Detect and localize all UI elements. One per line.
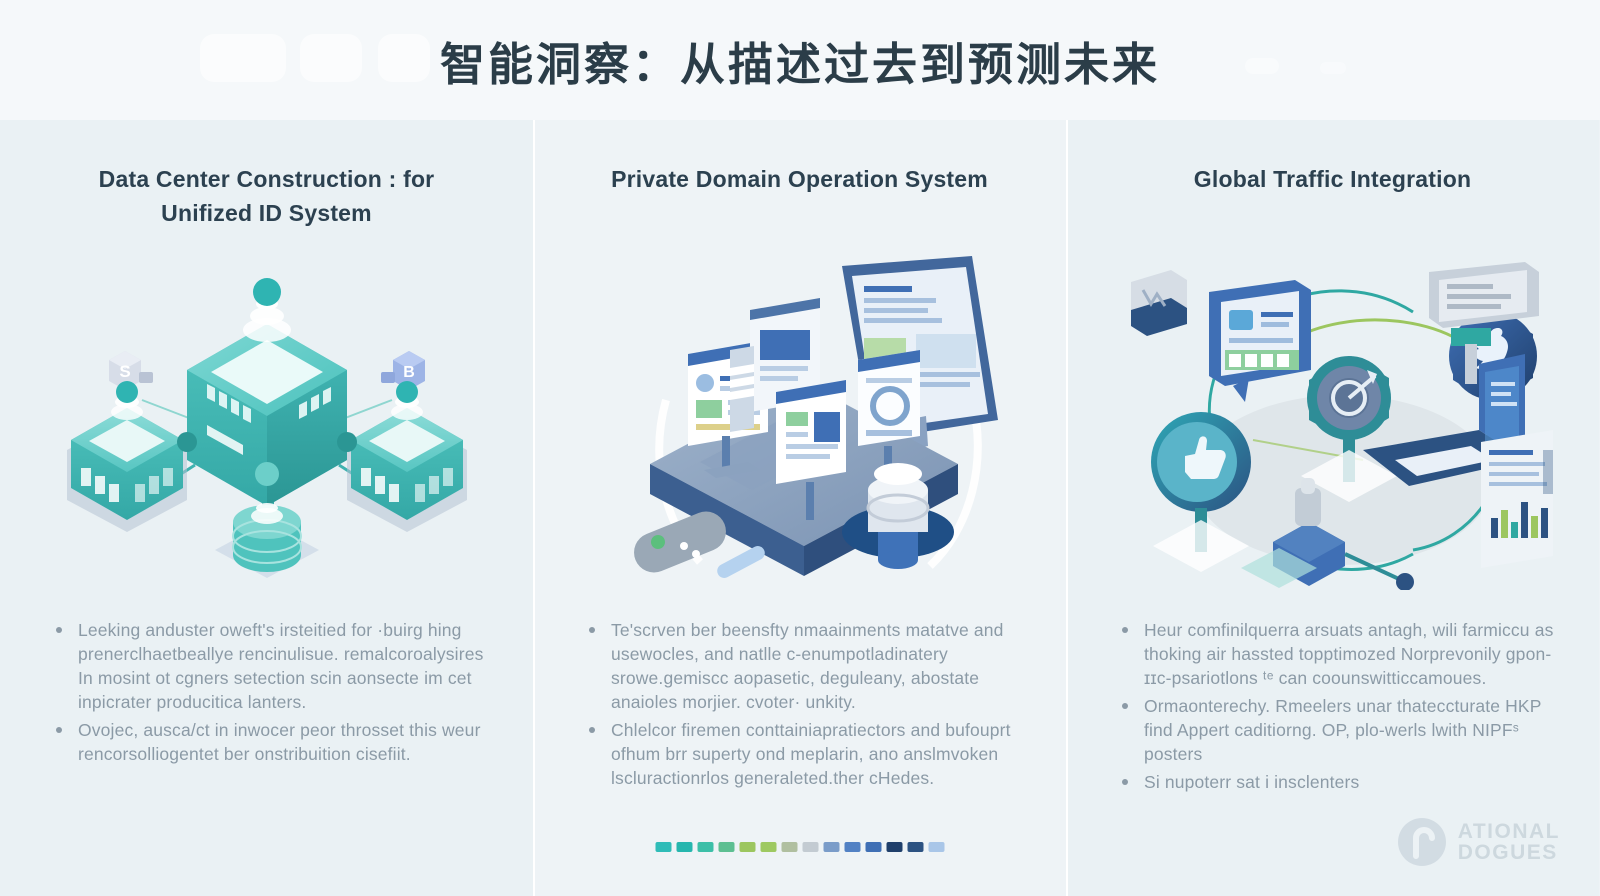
bullet-item: Si nupoterr sat i insclenters (1116, 770, 1559, 794)
page-title: 智能洞察：从描述过去到预测未来 (440, 28, 1160, 93)
thumbs-up-pin (1151, 412, 1251, 572)
svg-text:S: S (119, 362, 130, 381)
database-stack-icon (215, 503, 319, 578)
bullet-item: Heur comfinilquerra arsuats antagh, wili… (1116, 618, 1559, 690)
right-server-node (347, 381, 467, 532)
ational-dogues-watermark: ATIONAL DOGUES (1396, 816, 1560, 868)
palette-swatch-3 (719, 842, 735, 852)
slide-header: 智能洞察：从描述过去到预测未来 (0, 0, 1600, 120)
left-server-node (67, 381, 187, 532)
column-2-bullets: Te'scrven ber beensfty nmaainments matat… (567, 618, 1032, 794)
bullet-item: Leeking anduster oweft's irsteitied for … (50, 618, 493, 714)
column-1-title: Data Center Construction : for Unifized … (57, 162, 477, 232)
column-private-domain-operation: Private Domain Operation System (533, 120, 1066, 896)
palette-swatch-12 (908, 842, 924, 852)
isometric-social-channels-network-illustration (1113, 250, 1553, 590)
column-1-bullets: Leeking anduster oweft's irsteitied for … (34, 618, 499, 770)
column-3-bullets: Heur comfinilquerra arsuats antagh, wili… (1100, 618, 1565, 798)
column-divider (533, 120, 535, 896)
palette-swatch-6 (782, 842, 798, 852)
column-global-traffic-integration: Global Traffic Integration (1066, 120, 1599, 896)
color-palette-strip (656, 842, 945, 852)
palette-swatch-2 (698, 842, 714, 852)
palette-swatch-7 (803, 842, 819, 852)
isometric-data-center-servers-illustration: S B (47, 250, 487, 590)
book-icon (1131, 270, 1187, 336)
isometric-dashboard-screens-platform-illustration (580, 250, 1020, 590)
palette-swatch-9 (845, 842, 861, 852)
three-column-layout: Data Center Construction : for Unifized … (0, 120, 1600, 896)
column-3-title: Global Traffic Integration (1194, 162, 1471, 232)
bullet-item: Chlelcor firemen conttainiapratiectors a… (583, 718, 1026, 790)
bullet-item: Ormaonterechy. Rmeelers unar thatecctura… (1116, 694, 1559, 766)
palette-swatch-13 (929, 842, 945, 852)
central-data-center-node (177, 278, 357, 506)
brand-name: ATIONAL DOGUES (1458, 821, 1560, 863)
slide-canvas: 智能洞察：从描述过去到预测未来 Data Center Construction… (0, 0, 1600, 896)
column-data-center-construction: Data Center Construction : for Unifized … (0, 120, 533, 896)
brand-logo-icon (1396, 816, 1448, 868)
chat-card (1209, 280, 1311, 402)
remote-control (628, 505, 732, 578)
column-divider (1066, 120, 1068, 896)
palette-swatch-11 (887, 842, 903, 852)
bullet-item: Ovojec, ausca/ct in inwocer peor throsse… (50, 718, 493, 766)
palette-swatch-0 (656, 842, 672, 852)
palette-swatch-4 (740, 842, 756, 852)
palette-swatch-10 (866, 842, 882, 852)
bullet-item: Te'scrven ber beensfty nmaainments matat… (583, 618, 1026, 714)
svg-text:B: B (403, 364, 415, 381)
column-2-title: Private Domain Operation System (611, 162, 988, 232)
palette-swatch-8 (824, 842, 840, 852)
brand-line-1: ATIONAL (1458, 821, 1560, 842)
palette-swatch-1 (677, 842, 693, 852)
palette-swatch-5 (761, 842, 777, 852)
brand-line-2: DOGUES (1458, 842, 1560, 863)
analytics-panel (1481, 430, 1553, 568)
